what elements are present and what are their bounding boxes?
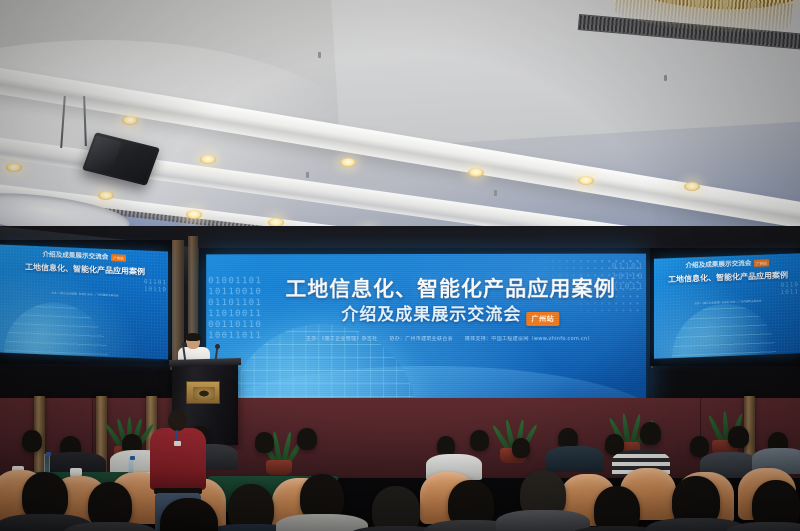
audience-shoulders (496, 510, 590, 531)
credit-coorganizer: 协办：广州市建筑业联合会 (389, 336, 453, 342)
audience-shoulders (276, 514, 368, 531)
ceiling (0, 0, 800, 250)
downlight-icon (186, 210, 202, 219)
right-screen-globe-graphic (672, 302, 776, 359)
audience-head (297, 428, 317, 450)
audience-head (512, 438, 530, 458)
presenter-hair (185, 333, 201, 341)
standing-attendee-head (168, 410, 187, 431)
lectern-crest-icon (186, 381, 220, 404)
audience-head (728, 426, 749, 448)
audience-shoulders (64, 522, 156, 531)
right-led-screen: 0110 1011 工地信息化、智能化产品应用案例 介绍及成果展示交流会 广州站… (654, 253, 800, 359)
slide-subtitle-row: 介绍及成果展示交流会 广州站 (264, 305, 638, 326)
left-led-screen: 01101 10110 工地信息化、智能化产品应用案例 介绍及成果展示交流会 广… (0, 244, 168, 359)
name-badge (174, 441, 181, 446)
right-screen-credits: 主办：《施工企业管理》杂志社 协办：广州市建筑业联合会 (660, 297, 796, 306)
audience-head (470, 430, 489, 451)
lectern-top (169, 358, 241, 367)
audience-head (437, 436, 455, 456)
audience-head (255, 432, 274, 453)
sprinkler-icon (318, 52, 321, 58)
slide-title: 工地信息化、智能化产品应用案例 (264, 276, 638, 302)
downlight-icon (98, 191, 114, 200)
left-screen-binary-pattern: 01101 10110 (144, 279, 167, 294)
standing-attendee-shirt (150, 428, 206, 490)
downlight-icon (6, 163, 22, 172)
slide-title-block: 工地信息化、智能化产品应用案例 介绍及成果展示交流会 广州站 (264, 276, 638, 326)
left-screen-title: 工地信息化、智能化产品应用案例 (6, 261, 164, 279)
right-screen-subtitle: 介绍及成果展示交流会 (685, 257, 751, 270)
downlight-icon (200, 155, 216, 164)
left-screen-globe-graphic (4, 301, 108, 360)
audience-head (22, 430, 42, 452)
downlight-icon (468, 168, 484, 177)
audience-head (690, 436, 709, 457)
sprinkler-icon (306, 172, 309, 178)
downlight-icon (340, 158, 356, 167)
right-screen-city-badge: 广州站 (754, 259, 768, 267)
audience-area (0, 410, 800, 531)
water-bottle (44, 454, 50, 474)
downlight-icon (578, 176, 594, 185)
audience-shoulders (546, 446, 604, 472)
sprinkler-icon (494, 190, 497, 196)
credit-media: 媒体支持：中国工程建设网（www.zhinfo.com.cn） (465, 336, 593, 342)
sprinkler-icon (664, 75, 667, 81)
main-led-screen: 01001101 10110010 01101101 11010011 0011… (206, 254, 646, 409)
microphone-head-icon (215, 344, 220, 349)
slide-credits: 主办：《施工企业管理》杂志社 协办：广州市建筑业联合会 媒体支持：中国工程建设网… (266, 336, 634, 343)
microphone-head-icon (182, 342, 187, 347)
audience-head (640, 422, 661, 445)
audience-head (594, 486, 640, 531)
left-screen-subtitle: 介绍及成果展示交流会 (42, 248, 108, 261)
downlight-icon (122, 116, 138, 125)
right-screen-title: 工地信息化、智能化产品应用案例 (660, 269, 796, 285)
right-screen-binary-pattern: 0110 1011 (781, 281, 799, 296)
credit-organizer: 主办：《施工企业管理》杂志社 (306, 336, 377, 342)
downlight-icon (684, 182, 700, 191)
audience-head (372, 486, 420, 531)
city-badge: 广州站 (526, 311, 559, 325)
left-screen-city-badge: 广州站 (111, 254, 125, 262)
slide-subtitle: 介绍及成果展示交流会 (341, 305, 521, 326)
left-screen-credits: 主办：《施工企业管理》杂志社 协办：广州市建筑业联合会 (6, 289, 164, 300)
conference-hall-photo: 01101 10110 工地信息化、智能化产品应用案例 介绍及成果展示交流会 广… (0, 0, 800, 531)
